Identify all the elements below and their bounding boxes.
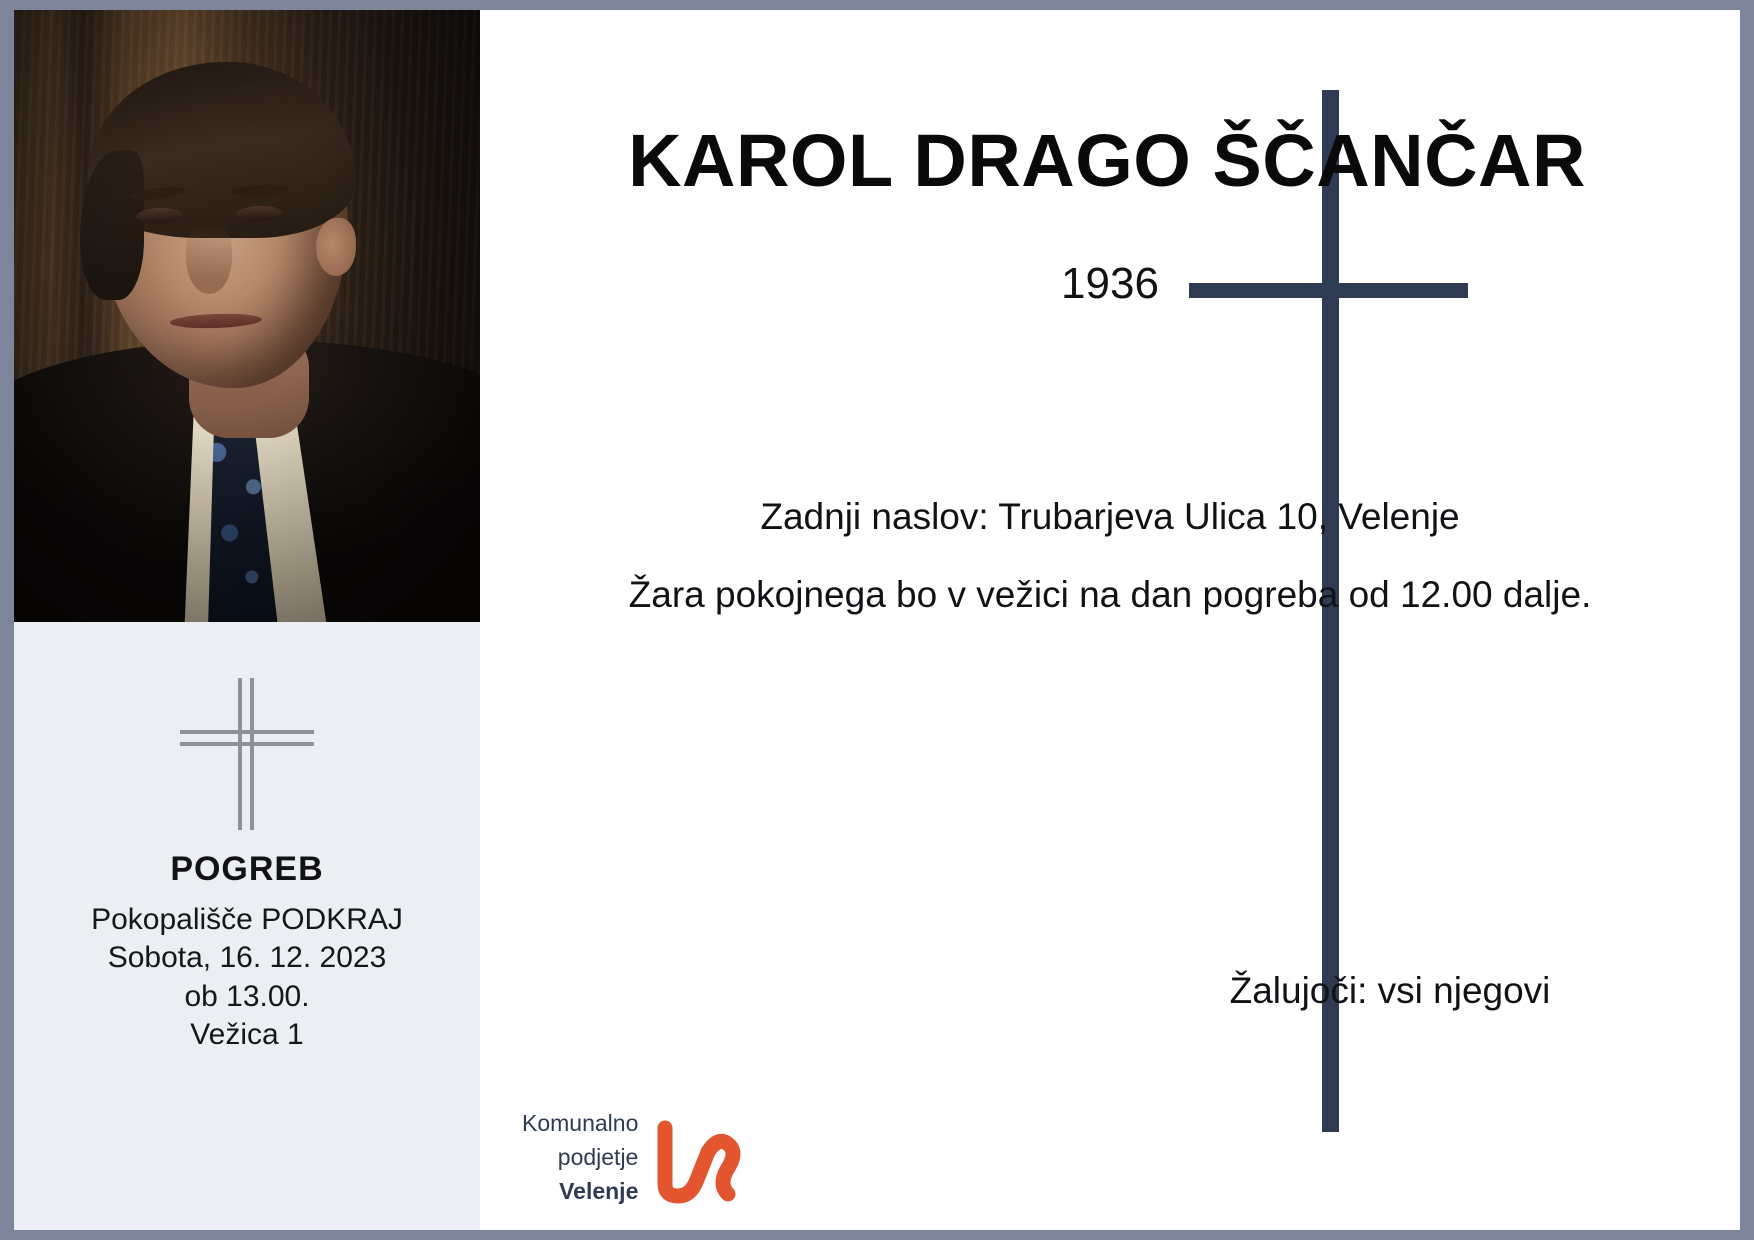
deceased-name: KAROL DRAGO ŠČANČAR — [480, 118, 1740, 203]
company-logo-line-1: Komunalno — [522, 1106, 638, 1140]
funeral-time: ob 13.00. — [14, 978, 480, 1016]
left-column: photograph of the deceased man in a dark… — [14, 10, 480, 1230]
kp-monogram-icon — [652, 1116, 744, 1208]
company-logo-line-3: Velenje — [522, 1174, 638, 1208]
funeral-heading: POGREB — [14, 850, 480, 889]
main-panel: KAROL DRAGO ŠČANČAR 1936 Zadnji naslov: … — [480, 10, 1740, 1230]
funeral-details-block: POGREB Pokopališče PODKRAJ Sobota, 16. 1… — [14, 622, 480, 1230]
last-address: Zadnji naslov: Trubarjeva Ulica 10, Vele… — [480, 496, 1740, 538]
portrait-vignette — [14, 10, 480, 622]
company-logo: Komunalno podjetje Velenje — [522, 1106, 744, 1208]
christian-cross-icon — [172, 674, 322, 834]
urn-viewing-note: Žara pokojnega bo v vežici na dan pogreb… — [610, 568, 1610, 622]
funeral-detail-lines: Pokopališče PODKRAJ Sobota, 16. 12. 2023… — [14, 901, 480, 1055]
company-logo-wordmark: Komunalno podjetje Velenje — [522, 1106, 638, 1208]
deceased-portrait-photo: photograph of the deceased man in a dark… — [14, 10, 480, 622]
company-logo-line-2: podjetje — [522, 1140, 638, 1174]
mourners-line: Žalujoči: vsi njegovi — [1090, 970, 1690, 1012]
funeral-chapel: Vežica 1 — [14, 1016, 480, 1054]
birth-year: 1936 — [480, 259, 1740, 309]
funeral-date: Sobota, 16. 12. 2023 — [14, 939, 480, 977]
obituary-notice-card: photograph of the deceased man in a dark… — [0, 0, 1754, 1240]
funeral-cemetery: Pokopališče PODKRAJ — [14, 901, 480, 939]
